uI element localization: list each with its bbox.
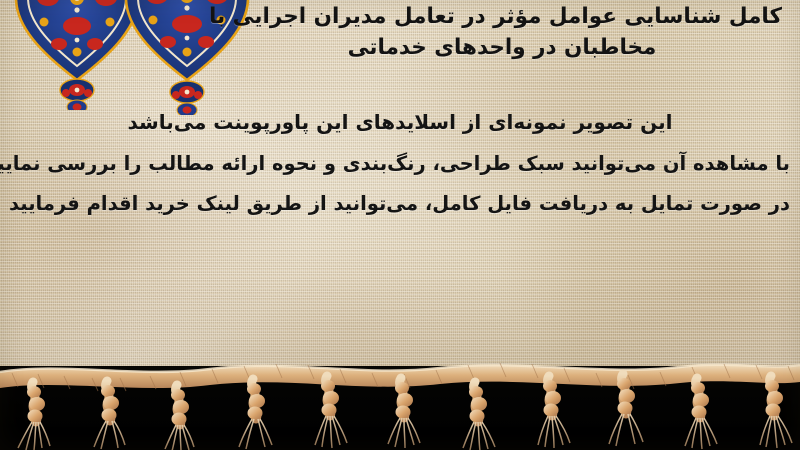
body-line-3: در صورت تمایل به دریافت فایل کامل، می‌تو… xyxy=(10,194,790,214)
slide-title: کامل شناسایی عوامل مؤثر در تعامل مدیران … xyxy=(222,2,782,63)
slide-canvas: کامل شناسایی عوامل مؤثر در تعامل مدیران … xyxy=(0,0,800,450)
slide-body: این تصویر نمونه‌ای از اسلایدهای این پاور… xyxy=(10,112,790,213)
slide-text-layer: کامل شناسایی عوامل مؤثر در تعامل مدیران … xyxy=(0,0,800,376)
title-line-1: کامل شناسایی عوامل مؤثر در تعامل مدیران … xyxy=(222,2,782,33)
body-line-2: با مشاهده آن می‌توانید سبک طراحی، رنگ‌بن… xyxy=(10,154,790,174)
dark-ground xyxy=(0,366,800,450)
title-line-2: مخاطبان در واحدهای خدماتی xyxy=(222,33,782,64)
body-line-1: این تصویر نمونه‌ای از اسلایدهای این پاور… xyxy=(10,112,790,132)
